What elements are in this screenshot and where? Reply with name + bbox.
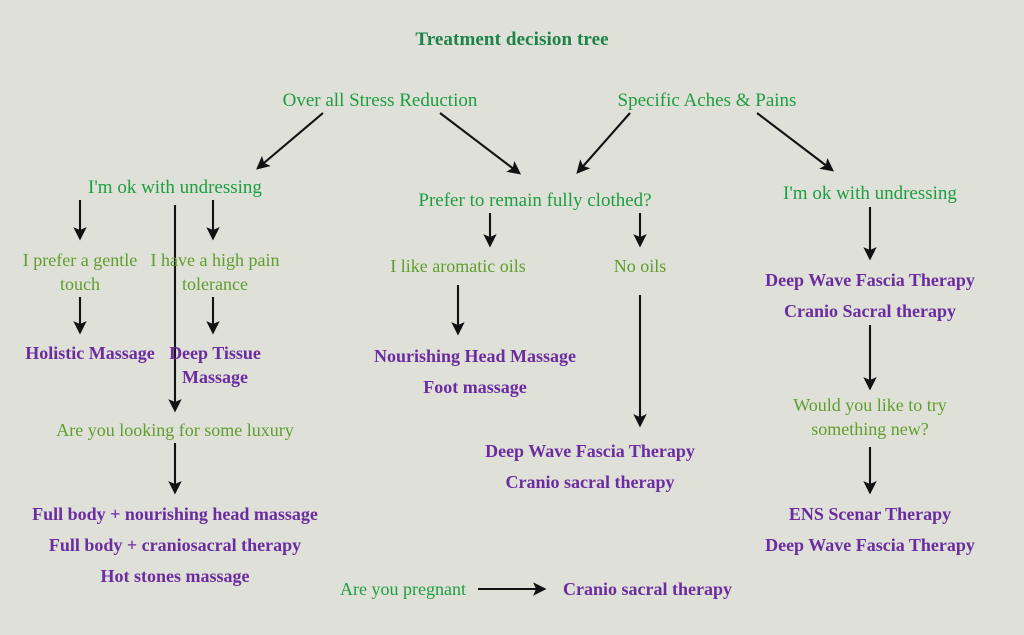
outcome-oils-treatments[interactable]: Nourishing Head Massage Foot massage — [350, 341, 600, 403]
arrow-aches-to-clothed — [578, 113, 630, 172]
outcome-pregnancy-treatment[interactable]: Cranio sacral therapy — [550, 578, 745, 602]
arrow-stress-to-clothed — [440, 113, 519, 173]
outcome-undressing-treatments[interactable]: Deep Wave Fascia Therapy Cranio Sacral t… — [750, 265, 990, 327]
node-would-you-like-to-try-something-new[interactable]: Would you like to try something new? — [765, 394, 975, 442]
outcome-luxury-treatments[interactable]: Full body + nourishing head massage Full… — [5, 499, 345, 592]
node-overall-stress-reduction[interactable]: Over all Stress Reduction — [230, 88, 530, 113]
outcome-no-oils-treatments[interactable]: Deep Wave Fascia Therapy Cranio sacral t… — [470, 436, 710, 498]
node-aches-im-ok-with-undressing[interactable]: I'm ok with undressing — [750, 181, 990, 206]
page-title: Treatment decision tree — [312, 27, 712, 52]
outcome-new-treatments[interactable]: ENS Scenar Therapy Deep Wave Fascia Ther… — [750, 499, 990, 561]
node-are-you-looking-for-luxury[interactable]: Are you looking for some luxury — [35, 419, 315, 443]
node-i-have-a-high-pain-tolerance[interactable]: I have a high pain tolerance — [140, 249, 290, 297]
node-no-oils[interactable]: No oils — [590, 255, 690, 279]
outcome-deep-tissue-massage[interactable]: Deep Tissue Massage — [140, 342, 290, 390]
arrow-stress-to-undressing — [258, 113, 323, 168]
decision-tree-canvas: Treatment decision tree Over all Stress … — [0, 0, 1024, 635]
arrow-aches-to-undressing — [757, 113, 832, 170]
node-stress-im-ok-with-undressing[interactable]: I'm ok with undressing — [55, 175, 295, 200]
node-i-like-aromatic-oils[interactable]: I like aromatic oils — [378, 255, 538, 279]
node-specific-aches-pains[interactable]: Specific Aches & Pains — [557, 88, 857, 113]
node-are-you-pregnant[interactable]: Are you pregnant — [320, 578, 486, 602]
node-prefer-to-remain-fully-clothed[interactable]: Prefer to remain fully clothed? — [390, 188, 680, 213]
node-i-prefer-a-gentle-touch[interactable]: I prefer a gentle touch — [5, 249, 155, 297]
